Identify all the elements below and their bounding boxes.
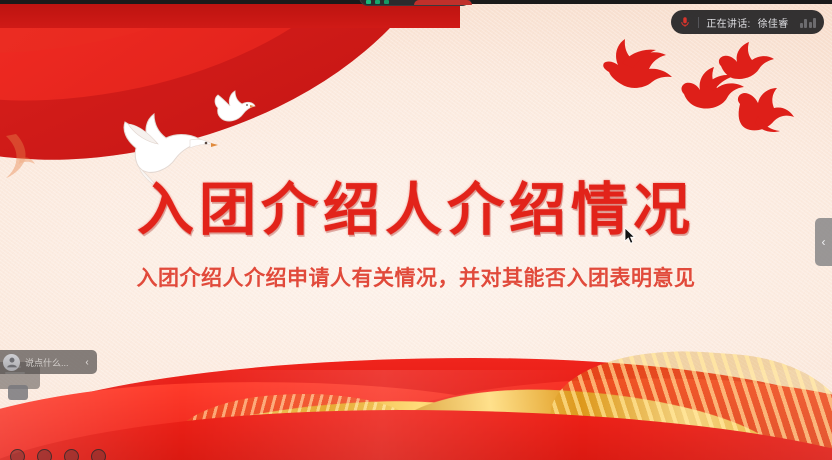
presentation-slide: 入团介绍人介绍情况 入团介绍人介绍申请人有关情况，并对其能否入团表明意见 [0,4,832,460]
slide-subtitle: 入团介绍人介绍申请人有关情况，并对其能否入团表明意见 [0,262,832,292]
toolbar-indicator-2 [375,0,380,4]
leave-meeting-button[interactable] [414,0,472,5]
speaking-divider [698,17,699,28]
toolbar-indicator-3 [384,0,389,4]
meeting-toolbar[interactable] [359,0,471,6]
toolbar-indicator-1 [366,0,371,4]
control-button-2[interactable] [37,449,52,460]
bottom-ribbon-decoration [0,340,832,460]
microphone-icon [678,16,691,29]
audio-waveform-icon [800,16,817,28]
bottom-control-bar[interactable] [0,449,176,460]
white-dove-icon-2 [212,88,256,126]
speaking-label: 正在讲话: [706,15,750,30]
red-dove-icon-4 [732,86,798,138]
top-ribbon-edge [0,4,460,28]
side-panel-toggle[interactable]: ‹ [815,218,832,266]
control-button-4[interactable] [91,449,106,460]
user-avatar-icon [3,354,20,371]
top-ribbon-layer-3 [0,4,333,59]
control-button-3[interactable] [64,449,79,460]
comment-input-bar[interactable]: 说点什么... ‹ [0,350,97,374]
screen-share-window: 入团介绍人介绍情况 入团介绍人介绍申请人有关情况，并对其能否入团表明意见 [0,0,832,460]
chevron-left-icon: ‹ [822,235,826,249]
control-button-1[interactable] [10,449,25,460]
comment-input[interactable]: 说点什么... [25,356,76,369]
bottom-left-tool-icon[interactable] [8,385,28,400]
slide-title: 入团介绍人介绍情况 [0,164,832,246]
speaker-name: 徐佳睿 [758,15,789,30]
red-dove-icon-3 [716,40,778,86]
comment-collapse-icon[interactable]: ‹ [81,357,93,368]
top-ribbon-layer-2 [0,4,418,115]
speaking-indicator: 正在讲话: 徐佳睿 [671,10,824,34]
red-dove-icon-1 [600,36,690,94]
